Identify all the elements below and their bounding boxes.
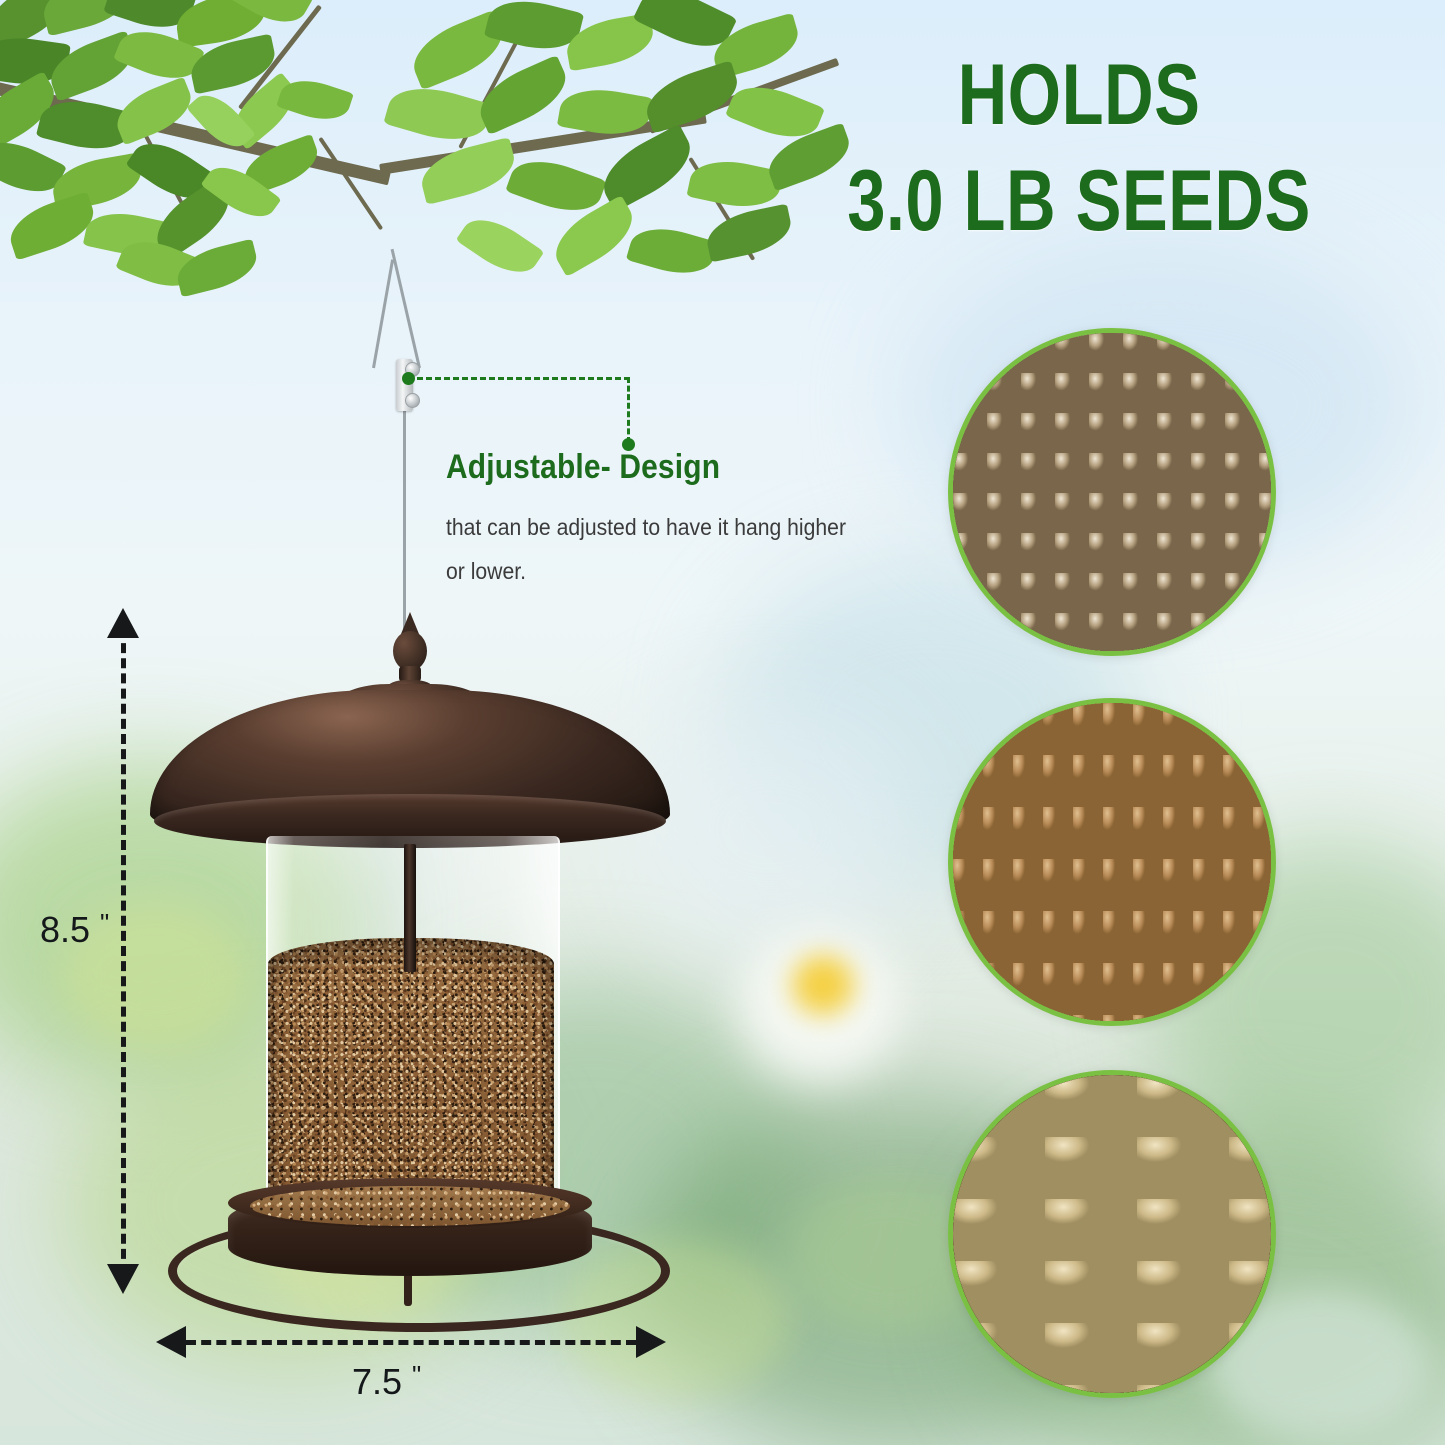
height-value: 8.5 bbox=[40, 909, 90, 950]
product-infographic: HOLDS 3.0 LB SEEDS Adjustable- Design th… bbox=[0, 0, 1445, 1445]
adjustable-clamp[interactable] bbox=[396, 359, 413, 411]
callout-title: Adjustable- Design bbox=[446, 448, 816, 487]
leader-horizontal bbox=[408, 377, 630, 380]
width-dimension-line bbox=[186, 1340, 636, 1345]
bird-feeder-product bbox=[150, 604, 670, 1304]
wheat-grains-image bbox=[953, 703, 1271, 1021]
leader-vertical bbox=[627, 377, 630, 443]
callout-block: Adjustable- Design that can be adjusted … bbox=[446, 448, 866, 593]
height-dimension-label: 8.5" bbox=[40, 908, 109, 951]
seed-inset-wheat bbox=[948, 698, 1276, 1026]
seed-inset-coriander bbox=[948, 328, 1276, 656]
width-value: 7.5 bbox=[352, 1361, 402, 1402]
arrow-down-icon bbox=[107, 1264, 139, 1294]
mixed-nuts-image bbox=[953, 1075, 1271, 1393]
height-unit: " bbox=[100, 908, 109, 938]
leader-dot-origin bbox=[402, 372, 415, 385]
seed-inset-nuts bbox=[948, 1070, 1276, 1398]
feeder-tray bbox=[228, 1176, 592, 1284]
center-rod bbox=[404, 844, 416, 972]
headline: HOLDS 3.0 LB SEEDS bbox=[749, 52, 1409, 245]
tree-branch-foliage bbox=[0, 0, 820, 336]
headline-line-1: HOLDS bbox=[815, 52, 1343, 140]
width-dimension-label: 7.5" bbox=[352, 1360, 421, 1403]
arrow-right-icon bbox=[636, 1326, 666, 1358]
feeder-roof bbox=[150, 690, 670, 850]
height-dimension-line bbox=[121, 628, 126, 1274]
callout-body: that can be adjusted to have it hang hig… bbox=[446, 505, 865, 593]
hanger-wire-drop bbox=[403, 405, 406, 633]
headline-line-2: 3.0 LB SEEDS bbox=[815, 158, 1343, 246]
width-unit: " bbox=[412, 1360, 421, 1390]
arrow-left-icon bbox=[156, 1326, 186, 1358]
coriander-seeds-image bbox=[953, 333, 1271, 651]
